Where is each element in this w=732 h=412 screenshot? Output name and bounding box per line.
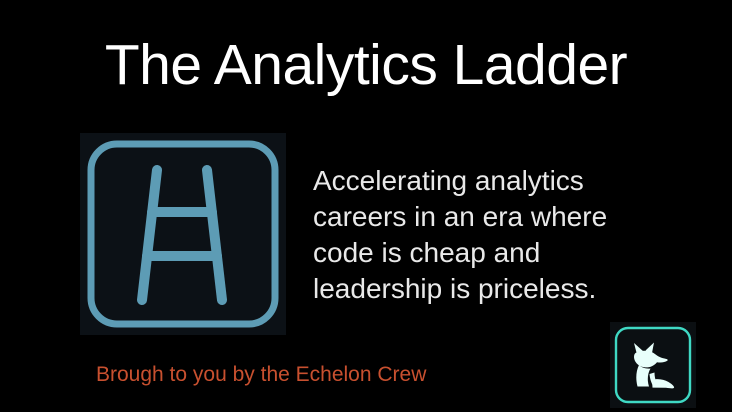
fox-icon — [610, 322, 696, 408]
tagline-line-4: leadership is priceless. — [313, 271, 653, 307]
tagline: Accelerating analytics careers in an era… — [313, 163, 653, 307]
fox-badge — [610, 322, 696, 408]
tagline-line-1: Accelerating analytics — [313, 163, 653, 199]
ladder-icon — [80, 133, 286, 335]
tagline-line-3: code is cheap and — [313, 235, 653, 271]
page-title: The Analytics Ladder — [0, 36, 732, 96]
attribution-text: Brough to you by the Echelon Crew — [96, 362, 426, 388]
tagline-line-2: careers in an era where — [313, 199, 653, 235]
slide-canvas: The Analytics Ladder Accelerating analyt… — [0, 0, 732, 412]
ladder-logo-tile — [80, 133, 286, 335]
